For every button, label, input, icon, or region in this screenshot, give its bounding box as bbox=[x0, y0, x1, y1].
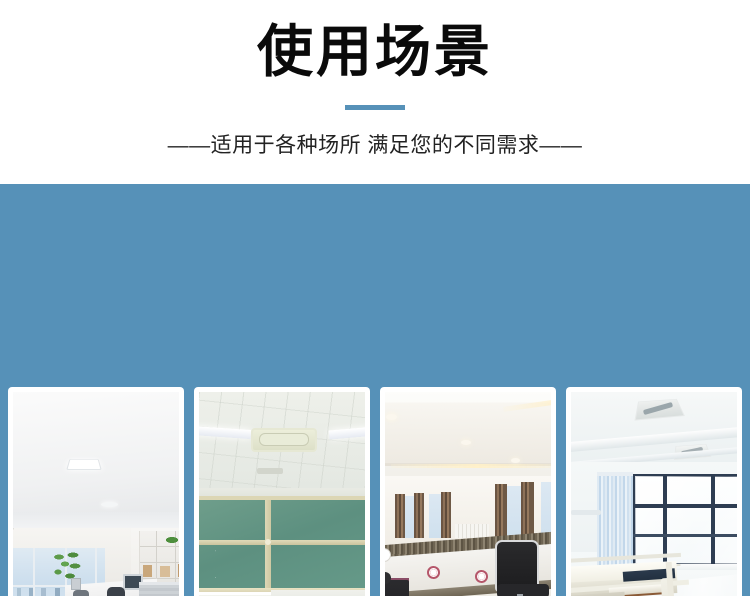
page-subtitle: ——适用于各种场所 满足您的不同需求—— bbox=[0, 131, 750, 161]
classroom-interior-photo bbox=[199, 392, 365, 596]
scenario-card-list: 办公场所 bbox=[8, 387, 742, 596]
ceiling-panel-light-icon bbox=[66, 459, 102, 470]
page-header: 使用场景 ——适用于各种场所 满足您的不同需求—— bbox=[0, 0, 750, 184]
office-interior-photo bbox=[13, 392, 179, 596]
usage-scenarios-page: 使用场景 ——适用于各种场所 满足您的不同需求—— bbox=[0, 0, 750, 596]
privacy-curtain-icon bbox=[597, 474, 633, 566]
scenario-card-office[interactable]: 办公场所 bbox=[8, 387, 184, 596]
page-title: 使用场景 bbox=[0, 20, 750, 84]
bank-interior-photo bbox=[385, 392, 551, 596]
scenarios-band: 办公场所 bbox=[0, 184, 750, 596]
hospital-ward-photo bbox=[571, 392, 737, 596]
scenario-card-finance[interactable]: 金融机构 bbox=[380, 387, 556, 596]
downlight-icon bbox=[461, 440, 471, 445]
title-divider bbox=[345, 105, 405, 110]
downlight-icon bbox=[386, 414, 397, 420]
scenario-card-education[interactable]: 教育场所 bbox=[194, 387, 370, 596]
scenario-card-medical[interactable]: 医疗机构 bbox=[566, 387, 742, 596]
downlight-icon bbox=[511, 458, 520, 463]
